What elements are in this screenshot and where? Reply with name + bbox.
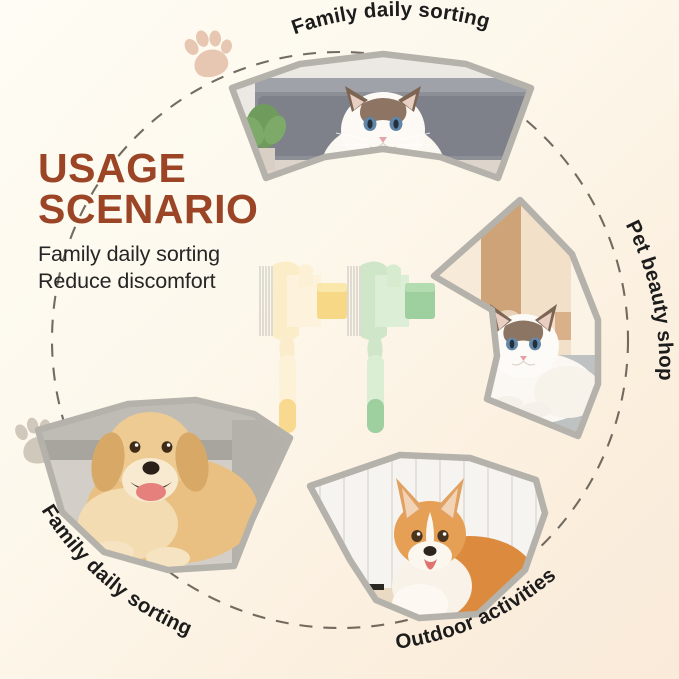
subtitle-line-2: Reduce discomfort: [38, 268, 300, 295]
page-title-line-2: SCENARIO: [38, 189, 300, 230]
arc-label-top: Family daily sorting: [289, 0, 493, 39]
paw-print-icon: [178, 26, 240, 84]
subtitle-block: Family daily sorting Reduce discomfort: [38, 241, 300, 294]
arc-label-right: Pet beauty shop: [621, 217, 677, 381]
arc-label-bottom-left: Family daily sorting: [37, 500, 196, 640]
arc-label-bottom-right: Outdoor activities: [394, 563, 560, 654]
heading-block: USAGE SCENARIO Family daily sorting Redu…: [38, 148, 300, 294]
page-title-line-1: USAGE: [38, 148, 300, 189]
subtitle-line-1: Family daily sorting: [38, 241, 300, 268]
brush-green: [348, 261, 435, 433]
paw-print-icon: [8, 414, 68, 470]
usage-scenario-poster: Family daily sorting Pet beauty shop Out…: [0, 0, 679, 679]
